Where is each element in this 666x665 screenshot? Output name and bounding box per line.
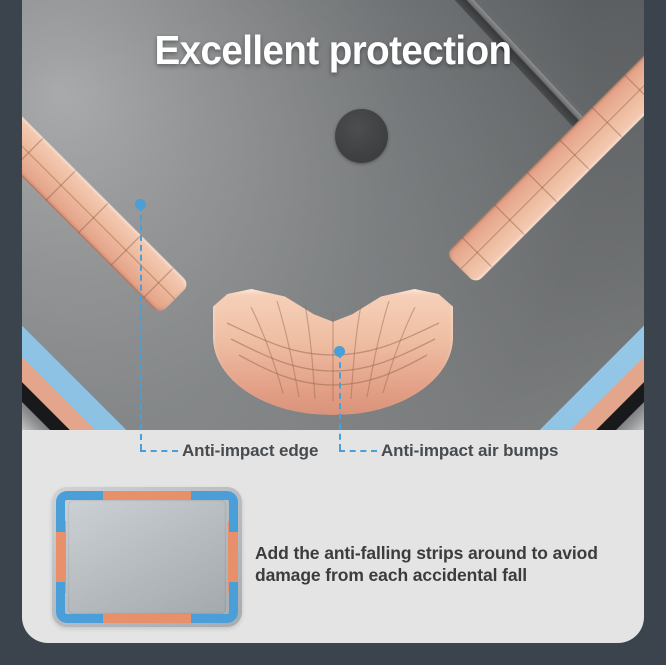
strip-bottom (92, 613, 202, 623)
leader-vline-anti-impact-air-bumps (339, 352, 341, 450)
air-bump-pad (213, 289, 453, 415)
tablet-screen (68, 500, 226, 614)
footer-caption: Add the anti-falling strips around to av… (255, 542, 627, 586)
label-anti-impact-edge: Anti-impact edge (182, 441, 318, 461)
caption-line-1: Add the anti-falling strips around to av… (255, 542, 627, 564)
camera-lens-icon (335, 109, 388, 163)
caption-line-2: damage from each accidental fall (255, 564, 627, 586)
leader-hline-anti-impact-edge (140, 450, 178, 452)
label-anti-impact-air-bumps: Anti-impact air bumps (381, 441, 558, 461)
page-title: Excellent protection (41, 27, 626, 74)
air-bump-surface (213, 289, 453, 415)
leader-hline-anti-impact-air-bumps (339, 450, 377, 452)
infographic-root: Anti-impact edge Anti-impact air bumps E… (0, 0, 666, 665)
leader-vline-anti-impact-edge (140, 205, 142, 450)
content-card: Anti-impact edge Anti-impact air bumps E… (22, 0, 644, 643)
tablet-with-anti-falling-strips (52, 487, 242, 627)
